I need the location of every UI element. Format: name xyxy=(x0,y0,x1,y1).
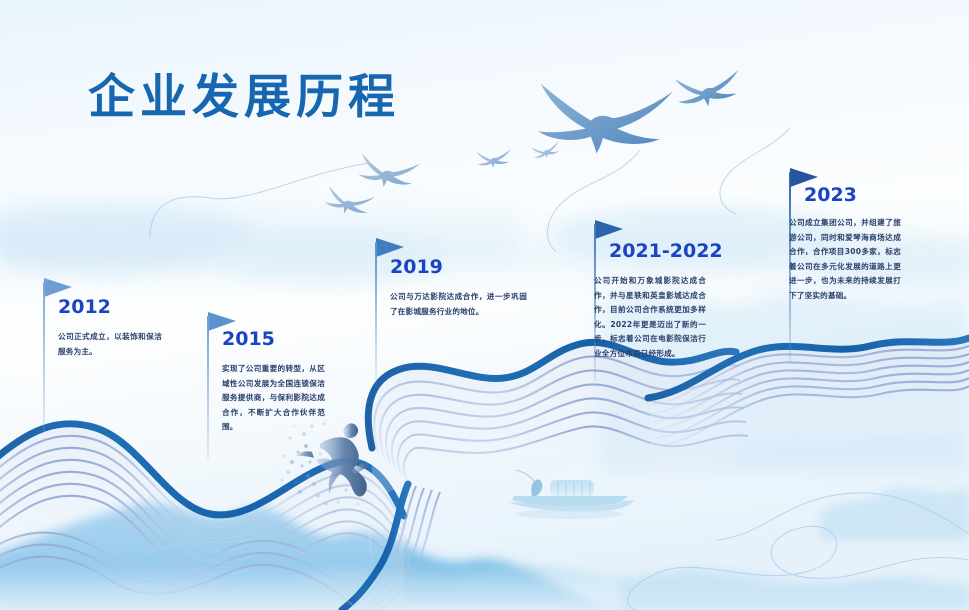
milestone-desc-2015: 实现了公司重要的转型，从区域性公司发展为全国连锁保洁服务提供商，与保利影院达成合… xyxy=(222,362,325,435)
milestone-year-2019: 2019 xyxy=(390,256,443,278)
milestone-desc-2019: 公司与万达影院达成合作，进一步巩固了在影城服务行业的地位。 xyxy=(390,290,527,319)
milestone-desc-2021-2022: 公司开始和万象城影院达成合作，并与星轶和英皇影城达成合作，目前公司合作系统更加多… xyxy=(594,274,706,361)
milestone-year-2012: 2012 xyxy=(58,296,111,318)
fisherman-boat-icon xyxy=(508,470,634,519)
particle-runner-icon xyxy=(281,423,370,513)
milestone-desc-2023: 公司成立集团公司，并组建了旅游公司，同时和爱琴海商场达成合作，合作项目300多家… xyxy=(789,216,901,303)
page-title: 企业发展历程 xyxy=(88,58,400,127)
milestone-year-2015: 2015 xyxy=(222,328,275,350)
milestone-year-2021-2022: 2021-2022 xyxy=(609,240,723,262)
milestone-year-2023: 2023 xyxy=(804,184,857,206)
flag-pole-2019 xyxy=(375,242,377,384)
infographic-canvas: 企业发展历程 2012 公司正式成立，以装饰和保洁服务为主。 2015 实现了公… xyxy=(0,0,969,610)
milestone-desc-2012: 公司正式成立，以装饰和保洁服务为主。 xyxy=(58,330,162,359)
flag-pole-2012 xyxy=(43,282,45,432)
flag-pole-2015 xyxy=(207,316,209,461)
